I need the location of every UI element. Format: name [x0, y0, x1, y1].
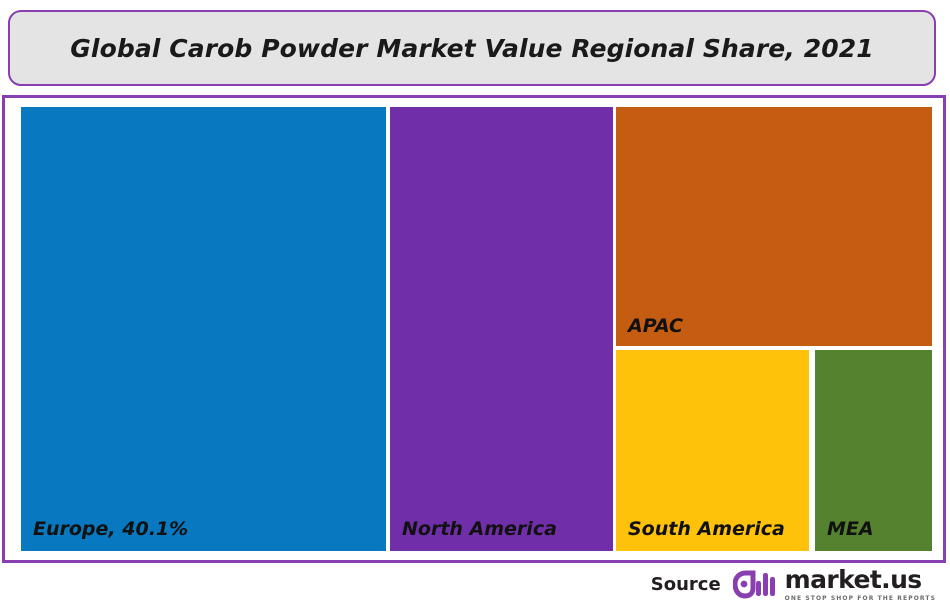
market-us-logo-text: market.us ONE STOP SHOP FOR THE REPORTS [785, 567, 936, 602]
treemap: Europe, 40.1% North America APAC South A… [5, 98, 949, 566]
treemap-tile-label-apac: APAC [628, 317, 683, 336]
page-title: Global Carob Powder Market Value Regiona… [70, 34, 873, 63]
chart-title-box: Global Carob Powder Market Value Regiona… [8, 10, 936, 86]
treemap-tile-north-america[interactable]: North America [390, 107, 613, 551]
market-us-logo-icon [733, 567, 779, 601]
treemap-tile-apac[interactable]: APAC [616, 107, 932, 346]
source-footer: Source market.us ONE STOP SHOP FOR THE R… [0, 563, 950, 605]
treemap-chart-frame: Europe, 40.1% North America APAC South A… [2, 95, 946, 563]
treemap-tile-south-america[interactable]: South America [616, 350, 809, 551]
logo-wordmark: market.us [785, 567, 936, 592]
treemap-tile-label-europe: Europe, 40.1% [33, 520, 188, 539]
treemap-tile-label-mea: MEA [827, 520, 874, 539]
treemap-tile-label-south-america: South America [628, 520, 785, 539]
market-us-logo[interactable]: market.us ONE STOP SHOP FOR THE REPORTS [733, 567, 936, 602]
source-label: Source [651, 574, 721, 595]
chart-page: Global Carob Powder Market Value Regiona… [0, 0, 950, 605]
treemap-tile-mea[interactable]: MEA [815, 350, 932, 551]
treemap-tile-label-north-america: North America [402, 520, 557, 539]
treemap-tile-europe[interactable]: Europe, 40.1% [21, 107, 386, 551]
logo-tagline: ONE STOP SHOP FOR THE REPORTS [785, 595, 936, 602]
